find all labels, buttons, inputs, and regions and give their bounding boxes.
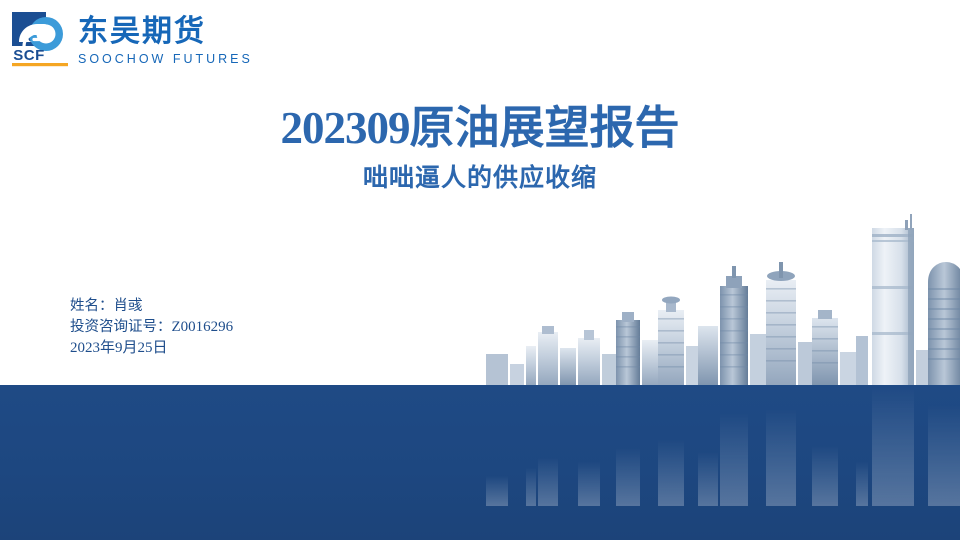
brand-wordmark: 东吴期货 SOOCHOW FUTURES [78, 12, 253, 67]
page-subtitle: 咄咄逼人的供应收缩 [0, 158, 960, 194]
svg-text:SCF: SCF [13, 47, 45, 64]
author-name-line: 姓名：肖彧 [70, 296, 233, 317]
footer-blue-band [0, 385, 960, 540]
city-skyline-graphic [480, 214, 960, 386]
report-date: 2023年9月25日 [70, 338, 233, 359]
brand-name-cn: 东吴期货 [78, 16, 253, 48]
scf-ribbon-logo-icon: SCF [12, 12, 68, 70]
title-report-name: 原油展望报告 [409, 101, 679, 154]
brand-name-en: SOOCHOW FUTURES [78, 51, 253, 67]
brand-logo: SCF 东吴期货 SOOCHOW FUTURES [12, 12, 253, 70]
license-label: 投资咨询证号： [70, 319, 172, 335]
author-license-line: 投资咨询证号：Z0016296 [70, 317, 233, 338]
license-value: Z0016296 [172, 319, 234, 335]
title-group: 202309原油展望报告 咄咄逼人的供应收缩 [0, 104, 960, 194]
title-report-number: 202309 [280, 103, 409, 153]
page-title: 202309原油展望报告 [0, 104, 960, 152]
author-info: 姓名：肖彧 投资咨询证号：Z0016296 2023年9月25日 [70, 296, 233, 359]
presentation-cover-slide: SCF 东吴期货 SOOCHOW FUTURES 202309原油展望报告 咄咄… [0, 0, 960, 540]
